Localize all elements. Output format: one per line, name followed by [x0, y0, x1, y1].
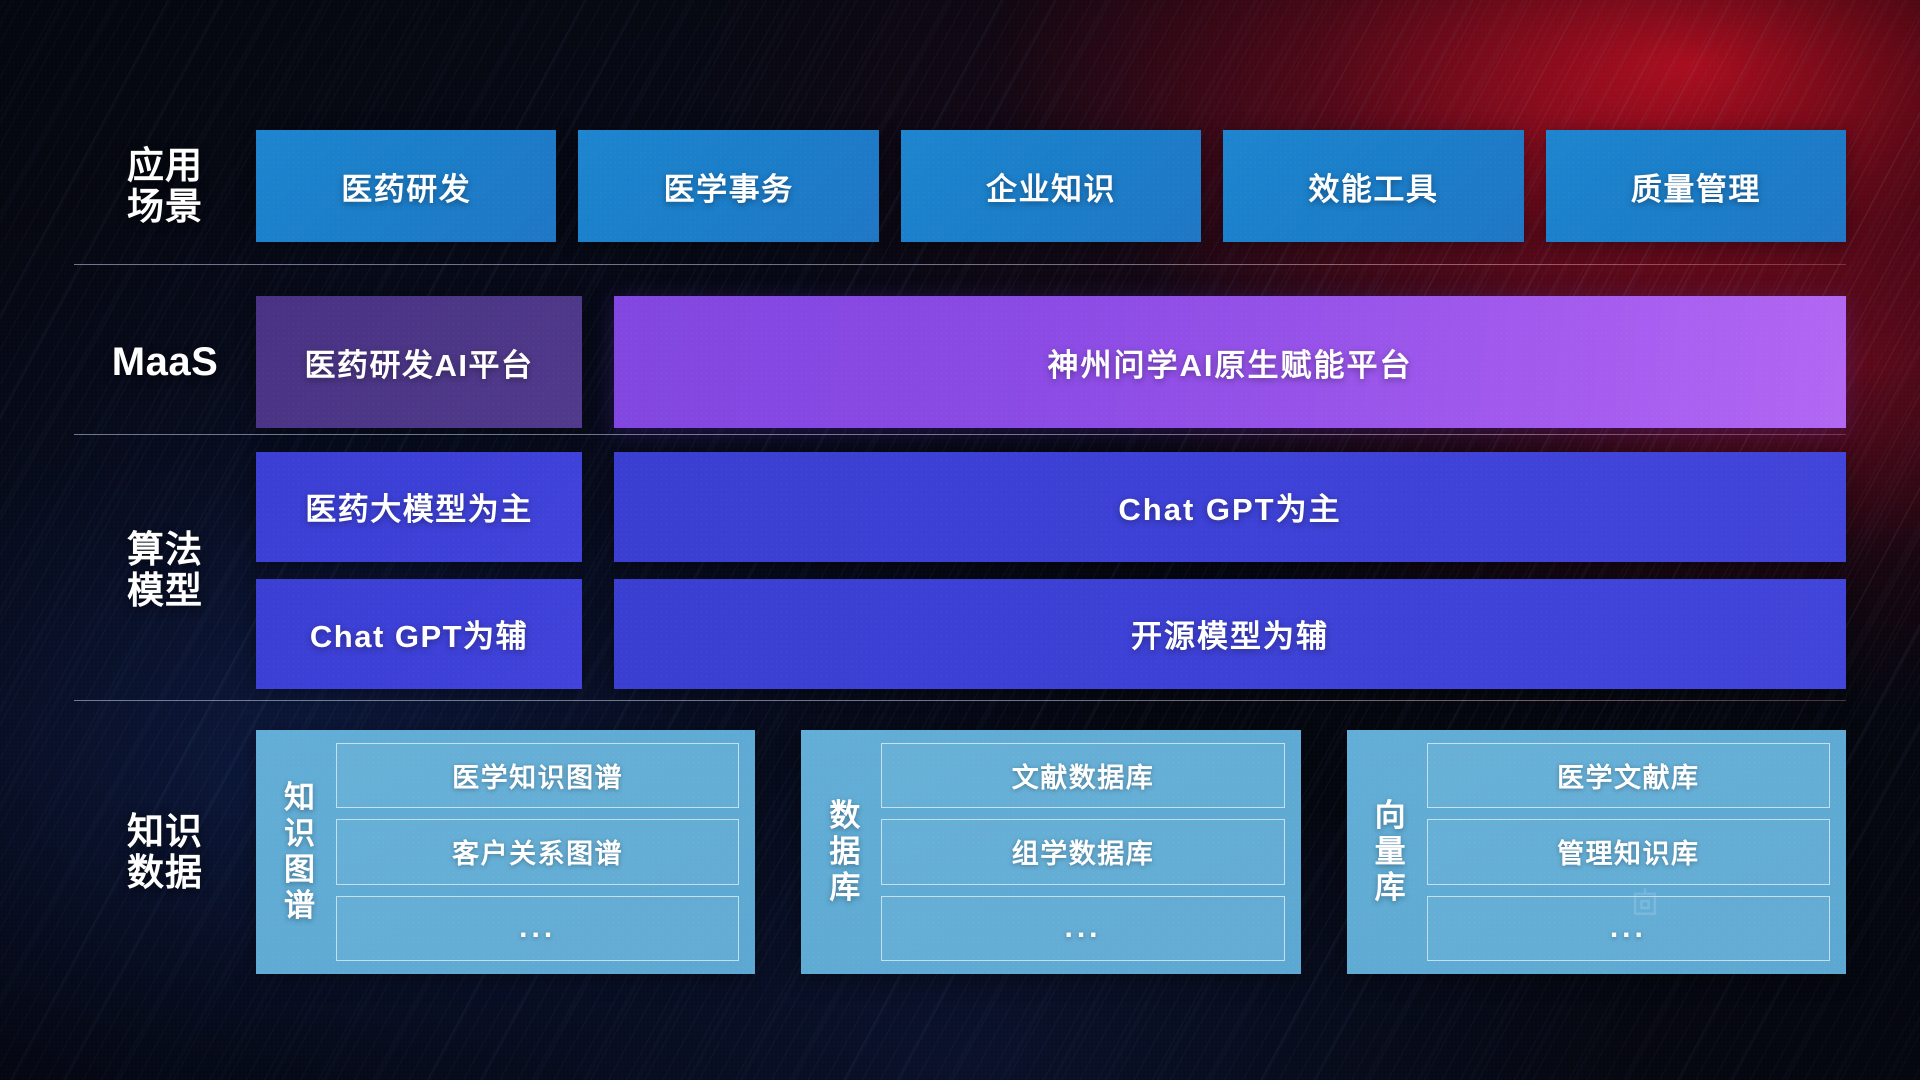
- knowledge-item-more[interactable]: ...: [881, 896, 1284, 961]
- algo-card-label: 开源模型为辅: [1131, 611, 1329, 656]
- app-card-medical-affairs[interactable]: 医学事务: [578, 130, 878, 242]
- divider-application-maas: [74, 264, 1846, 265]
- title-char: 知: [284, 780, 316, 816]
- maas-card-label: 医药研发AI平台: [305, 340, 534, 385]
- divider-maas-algorithm: [74, 434, 1846, 435]
- app-card-efficiency-tools[interactable]: 效能工具: [1223, 130, 1523, 242]
- row-label-application-scenarios: 应用 场景: [74, 145, 256, 228]
- knowledge-group-title-database: 数 据 库: [809, 743, 881, 961]
- knowledge-item-medical-literature-store[interactable]: 医学文献库: [1427, 743, 1830, 808]
- app-card-label: 医药研发: [341, 164, 471, 209]
- algo-card-chatgpt-secondary[interactable]: Chat GPT为辅: [256, 579, 582, 689]
- algorithm-line-primary: 医药大模型为主 Chat GPT为主: [256, 452, 1846, 562]
- knowledge-item-customer-relation-graph[interactable]: 客户关系图谱: [336, 819, 739, 884]
- app-card-label: 企业知识: [986, 164, 1116, 209]
- maas-card-shenzhou-wenxue-platform[interactable]: 神州问学AI原生赋能平台: [614, 296, 1846, 428]
- algo-card-label: Chat GPT为辅: [310, 611, 528, 656]
- algorithm-card-grid: 医药大模型为主 Chat GPT为主 Chat GPT为辅 开源模型为辅: [256, 452, 1920, 689]
- app-card-label: 质量管理: [1631, 164, 1761, 209]
- application-card-list: 医药研发 医学事务 企业知识 效能工具 质量管理: [256, 130, 1920, 242]
- app-card-label: 效能工具: [1308, 164, 1438, 209]
- building-icon: [1628, 884, 1662, 918]
- row-label-line-1: 知识: [74, 811, 256, 852]
- algo-card-label: 医药大模型为主: [305, 484, 533, 529]
- row-label-algorithm-models: 算法 模型: [74, 529, 256, 612]
- app-card-medicine-rd[interactable]: 医药研发: [256, 130, 556, 242]
- knowledge-group-title-knowledge-graph: 知 识 图 谱: [264, 743, 336, 961]
- algo-card-opensource-secondary[interactable]: 开源模型为辅: [614, 579, 1846, 689]
- row-label-maas: MaaS: [74, 340, 256, 385]
- title-char: 识: [284, 816, 316, 852]
- knowledge-item-medical-knowledge-graph[interactable]: 医学知识图谱: [336, 743, 739, 808]
- maas-card-list: 医药研发AI平台 神州问学AI原生赋能平台: [256, 296, 1920, 428]
- row-maas: MaaS 医药研发AI平台 神州问学AI原生赋能平台: [0, 296, 1920, 428]
- algo-card-label: Chat GPT为主: [1118, 484, 1341, 529]
- maas-card-label: 神州问学AI原生赋能平台: [1048, 340, 1413, 385]
- knowledge-item-list: 文献数据库 组学数据库 ...: [881, 743, 1284, 961]
- knowledge-group-vector-store[interactable]: 向 量 库 医学文献库 管理知识库 ...: [1347, 730, 1846, 974]
- app-card-quality-management[interactable]: 质量管理: [1546, 130, 1846, 242]
- knowledge-item-list: 医学文献库 管理知识库 ...: [1427, 743, 1830, 961]
- row-label-line-1: 应用: [74, 145, 256, 186]
- title-char: 量: [1375, 834, 1407, 870]
- watermark: [1628, 884, 1670, 918]
- row-label-line-2: 场景: [74, 186, 256, 227]
- algo-card-medicine-large-model-primary[interactable]: 医药大模型为主: [256, 452, 582, 562]
- divider-algorithm-knowledge: [74, 700, 1846, 701]
- knowledge-item-management-knowledge-store[interactable]: 管理知识库: [1427, 819, 1830, 884]
- knowledge-group-database[interactable]: 数 据 库 文献数据库 组学数据库 ...: [801, 730, 1300, 974]
- knowledge-group-knowledge-graph[interactable]: 知 识 图 谱 医学知识图谱 客户关系图谱 ...: [256, 730, 755, 974]
- row-application-scenarios: 应用 场景 医药研发 医学事务 企业知识 效能工具 质量管理: [0, 130, 1920, 242]
- knowledge-item-more[interactable]: ...: [336, 896, 739, 961]
- row-label-line-2: 数据: [74, 852, 256, 893]
- row-label-line-2: 模型: [74, 570, 256, 611]
- knowledge-group-list: 知 识 图 谱 医学知识图谱 客户关系图谱 ... 数 据 库: [256, 730, 1920, 974]
- title-char: 向: [1375, 798, 1407, 834]
- algorithm-line-secondary: Chat GPT为辅 开源模型为辅: [256, 579, 1846, 689]
- app-card-enterprise-knowledge[interactable]: 企业知识: [901, 130, 1201, 242]
- title-char: 据: [829, 834, 861, 870]
- row-knowledge-data: 知识 数据 知 识 图 谱 医学知识图谱 客户关系图谱 ...: [0, 730, 1920, 974]
- maas-card-medicine-rd-platform[interactable]: 医药研发AI平台: [256, 296, 582, 428]
- architecture-diagram: 应用 场景 医药研发 医学事务 企业知识 效能工具 质量管理 MaaS: [0, 0, 1920, 1080]
- row-algorithm-models: 算法 模型 医药大模型为主 Chat GPT为主 Chat GPT为辅 开源模型…: [0, 452, 1920, 688]
- knowledge-group-title-vector-store: 向 量 库: [1355, 743, 1427, 961]
- title-char: 库: [829, 870, 861, 906]
- title-char: 谱: [284, 888, 316, 924]
- knowledge-item-list: 医学知识图谱 客户关系图谱 ...: [336, 743, 739, 961]
- knowledge-item-omics-database[interactable]: 组学数据库: [881, 819, 1284, 884]
- title-char: 数: [829, 798, 861, 834]
- row-label-line-1: 算法: [74, 529, 256, 570]
- app-card-label: 医学事务: [664, 164, 794, 209]
- knowledge-item-literature-database[interactable]: 文献数据库: [881, 743, 1284, 808]
- row-label-knowledge-data: 知识 数据: [74, 811, 256, 894]
- title-char: 图: [284, 852, 316, 888]
- title-char: 库: [1375, 870, 1407, 906]
- algo-card-chatgpt-primary[interactable]: Chat GPT为主: [614, 452, 1846, 562]
